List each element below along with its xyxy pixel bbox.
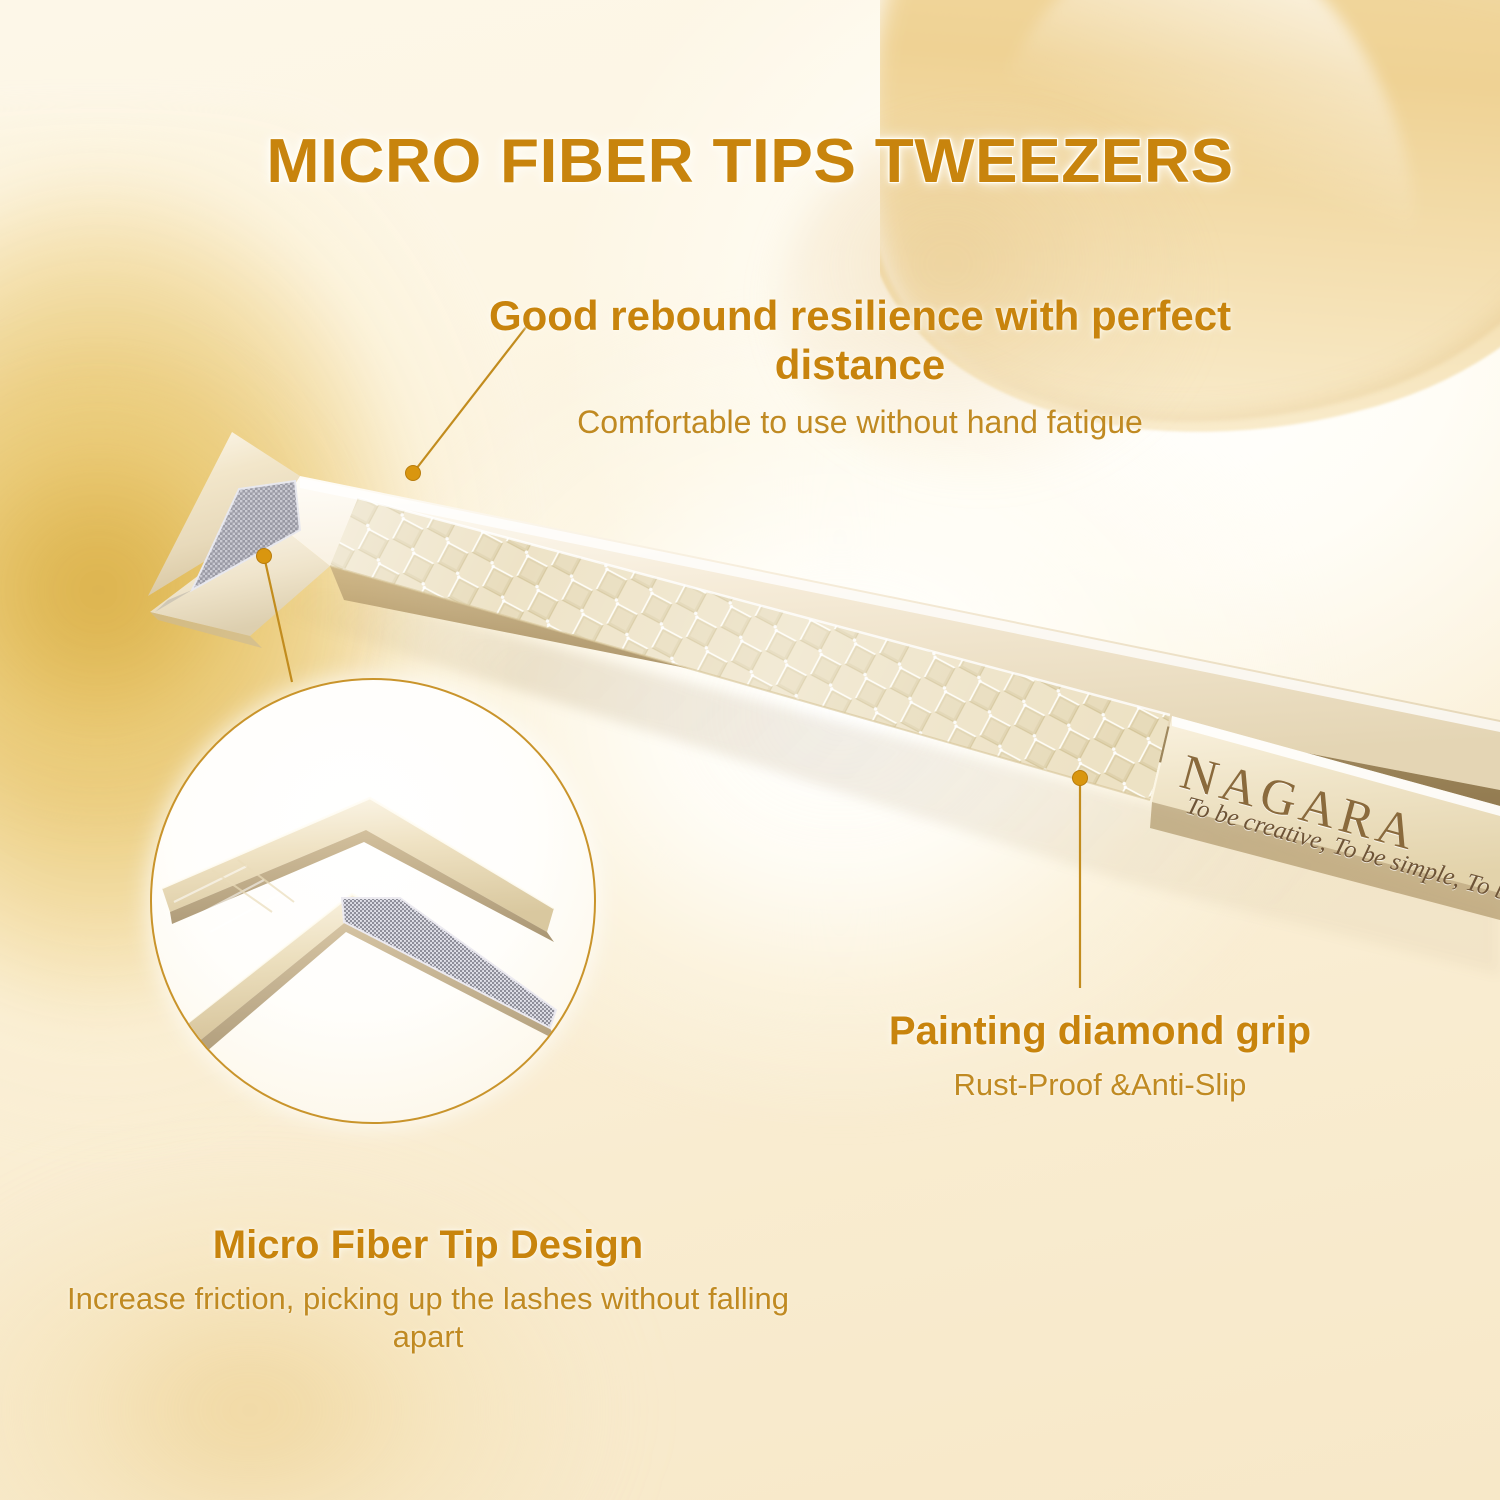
callout-grip-subline: Rust-Proof &Anti-Slip bbox=[770, 1066, 1430, 1103]
callout-rebound-headline: Good rebound resilience with perfect dis… bbox=[470, 292, 1250, 389]
callout-tip-subline: Increase friction, picking up the lashes… bbox=[48, 1280, 808, 1354]
magnified-tip-inset bbox=[150, 678, 596, 1124]
callout-rebound-subline: Comfortable to use without hand fatigue bbox=[470, 403, 1250, 441]
callout-tip-headline: Micro Fiber Tip Design bbox=[48, 1222, 808, 1268]
callout-rebound-resilience: Good rebound resilience with perfect dis… bbox=[470, 292, 1250, 442]
product-infographic: NAGARA To be creative, To be simple, To … bbox=[0, 0, 1500, 1500]
page-title: MICRO FIBER TIPS TWEEZERS bbox=[0, 126, 1500, 197]
magnified-tip-drawing bbox=[152, 680, 594, 1122]
callout-micro-fiber-tip: Micro Fiber Tip Design Increase friction… bbox=[48, 1222, 808, 1355]
callout-grip-headline: Painting diamond grip bbox=[770, 1008, 1430, 1054]
callout-diamond-grip: Painting diamond grip Rust-Proof &Anti-S… bbox=[770, 1008, 1430, 1104]
